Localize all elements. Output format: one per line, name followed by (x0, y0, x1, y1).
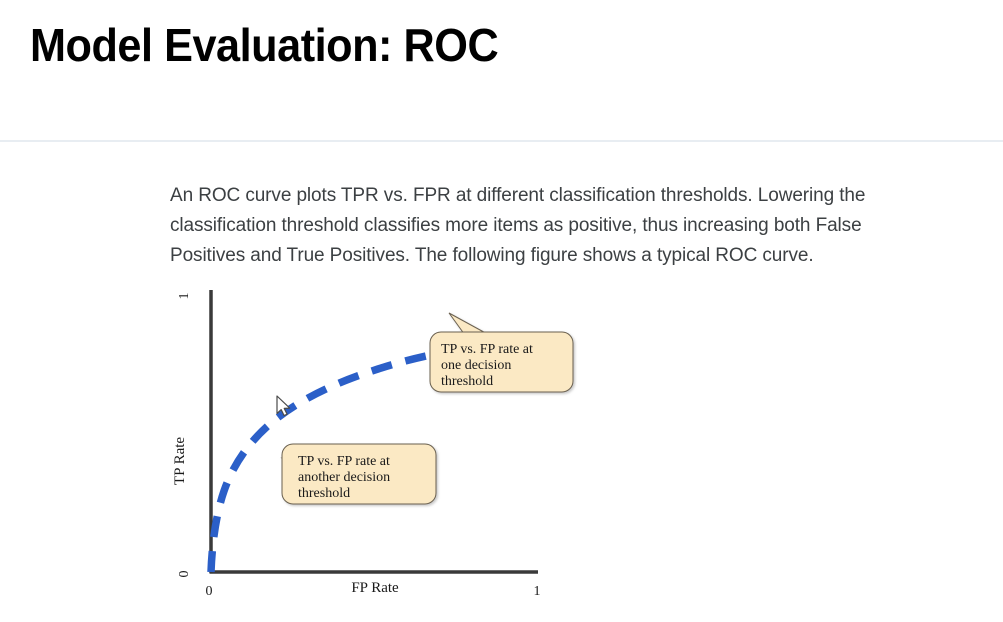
y-axis-label: TP Rate (172, 437, 188, 486)
content-body: An ROC curve plots TPR vs. FPR at differ… (170, 181, 930, 271)
header-divider (0, 140, 1003, 142)
lower-callout-line-1: TP vs. FP rate at (298, 454, 390, 469)
lower-callout-line-2: another decision (298, 470, 390, 485)
x-axis-tick-right: 1 (534, 584, 541, 599)
page-header: Model Evaluation: ROC (0, 0, 1003, 141)
x-axis-tick-left: 0 (206, 584, 213, 599)
x-axis-label: FP Rate (351, 580, 399, 596)
lower-callout-line-3: threshold (298, 486, 350, 501)
roc-curve-figure: 1 0 TP Rate 0 1 FP Rate TP vs. FP rate a… (170, 286, 590, 606)
intro-paragraph: An ROC curve plots TPR vs. FPR at differ… (170, 181, 930, 271)
upper-callout-line-3: threshold (441, 374, 493, 389)
upper-callout-line-2: one decision (441, 358, 511, 373)
upper-callout-line-1: TP vs. FP rate at (441, 342, 533, 357)
y-axis-tick-bottom: 0 (177, 571, 192, 578)
page-title: Model Evaluation: ROC (30, 18, 498, 72)
y-axis-tick-top: 1 (177, 293, 192, 300)
